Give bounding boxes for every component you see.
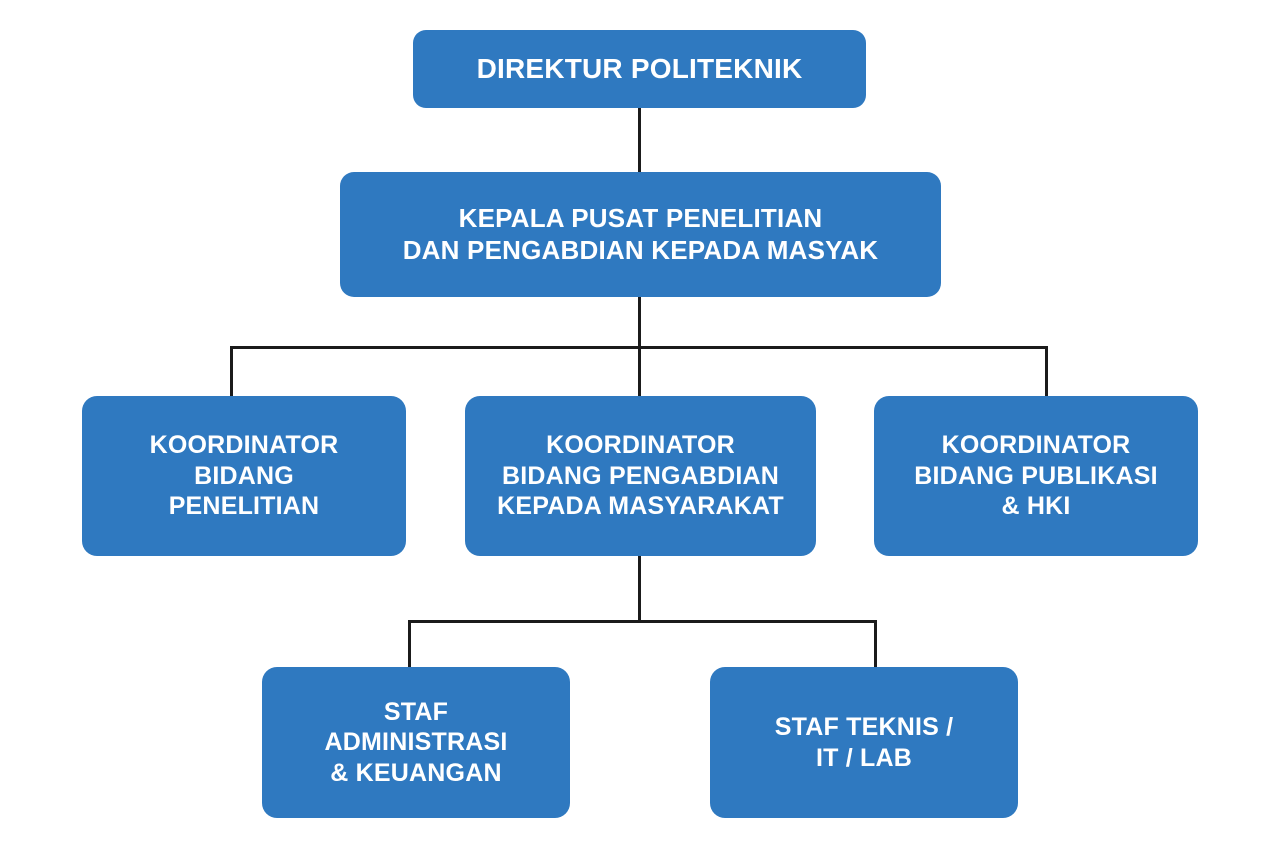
node-direktur-politeknik-label: DIREKTUR POLITEKNIK bbox=[413, 52, 866, 86]
node-staf-administrasi-keuangan-label: STAF ADMINISTRASI & KEUANGAN bbox=[262, 697, 570, 789]
node-staf-administrasi-keuangan[interactable]: STAF ADMINISTRASI & KEUANGAN bbox=[262, 667, 570, 818]
node-staf-teknis-it-lab-label: STAF TEKNIS / IT / LAB bbox=[710, 712, 1018, 773]
node-koordinator-bidang-penelitian[interactable]: KOORDINATOR BIDANG PENELITIAN bbox=[82, 396, 406, 556]
node-koordinator-bidang-publikasi[interactable]: KOORDINATOR BIDANG PUBLIKASI & HKI bbox=[874, 396, 1198, 556]
node-kepala-pusat-penelitian[interactable]: KEPALA PUSAT PENELITIAN DAN PENGABDIAN K… bbox=[340, 172, 941, 297]
connector-direktur-to-kepala-pusat bbox=[638, 106, 641, 174]
connector-drop-staf-teknis bbox=[874, 620, 877, 669]
connector-koord-pengabdian-stem bbox=[638, 554, 641, 623]
node-koordinator-bidang-penelitian-label: KOORDINATOR BIDANG PENELITIAN bbox=[82, 430, 406, 522]
connector-drop-koord-publikasi bbox=[1045, 346, 1048, 398]
node-koordinator-bidang-publikasi-label: KOORDINATOR BIDANG PUBLIKASI & HKI bbox=[874, 430, 1198, 522]
connector-kepala-pusat-stem bbox=[638, 295, 641, 349]
node-koordinator-bidang-pengabdian-label: KOORDINATOR BIDANG PENGABDIAN KEPADA MAS… bbox=[465, 430, 816, 522]
connector-bus-staf bbox=[408, 620, 877, 623]
connector-drop-staf-administrasi bbox=[408, 620, 411, 669]
node-direktur-politeknik[interactable]: DIREKTUR POLITEKNIK bbox=[413, 30, 866, 108]
node-koordinator-bidang-pengabdian[interactable]: KOORDINATOR BIDANG PENGABDIAN KEPADA MAS… bbox=[465, 396, 816, 556]
connector-drop-koord-pengabdian bbox=[638, 346, 641, 398]
node-kepala-pusat-penelitian-label: KEPALA PUSAT PENELITIAN DAN PENGABDIAN K… bbox=[340, 203, 941, 266]
connector-drop-koord-penelitian bbox=[230, 346, 233, 398]
node-staf-teknis-it-lab[interactable]: STAF TEKNIS / IT / LAB bbox=[710, 667, 1018, 818]
org-chart: DIREKTUR POLITEKNIK KEPALA PUSAT PENELIT… bbox=[0, 0, 1280, 853]
